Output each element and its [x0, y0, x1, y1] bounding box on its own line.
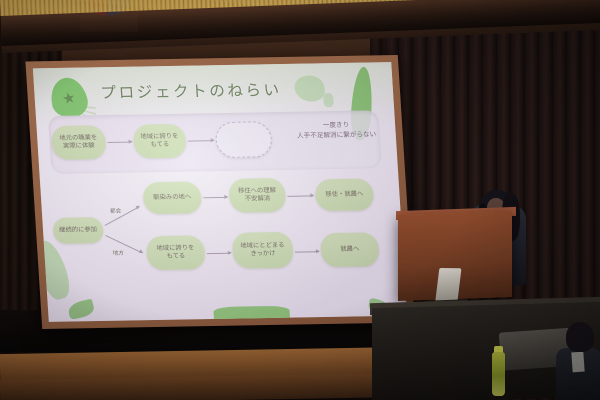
slide-title-row: ★ プロジェクトのねらい	[43, 70, 384, 116]
node-line: 地域に誇りを	[156, 244, 194, 253]
arrow-branch-lower	[105, 235, 142, 254]
seated-attendee-shirt	[571, 352, 584, 373]
node-line: 移住・就農へ	[325, 190, 363, 199]
note-line: 人手不足解消に繋がらない	[283, 130, 390, 141]
branch-label-upper: 都会	[110, 207, 122, 215]
node-source: 継続的に参加	[52, 217, 104, 244]
node-line: 移住への理解	[238, 187, 276, 196]
projection-screen: ★ プロジェクトのねらい 地元の職業を 実際に体験 地域に誇りを もてる 一度き…	[25, 55, 414, 329]
star-glyph: ★	[61, 90, 78, 107]
grass-icon-bottom-left	[66, 299, 95, 320]
node-b3: 就農へ	[320, 232, 380, 267]
node-n1: 地元の職業を 実際に体験	[51, 125, 107, 160]
node-line: 馴染みの地へ	[153, 193, 191, 202]
node-line: 実際に体験	[63, 142, 95, 151]
arrow-n2-n3	[188, 140, 214, 142]
node-n2: 地域に誇りを もてる	[133, 124, 187, 159]
node-line: もてる	[150, 141, 169, 150]
arrow-b2-b3	[295, 251, 319, 253]
node-n3-empty	[215, 121, 273, 158]
top-row-note: 一度きり 人手不足解消に繋がらない	[283, 120, 390, 141]
node-line: 就農へ	[340, 245, 359, 254]
node-line: 地域に誇りを	[140, 132, 178, 141]
node-line: 不安解消	[245, 195, 271, 204]
arrow-n1-n2	[108, 142, 132, 144]
presentation-photo-scene: ★ プロジェクトのねらい 地元の職業を 実際に体験 地域に誇りを もてる 一度き…	[0, 0, 600, 400]
water-bottle	[492, 352, 505, 396]
branch-label-lower: 地方	[112, 249, 124, 257]
arrow-m1-m2	[203, 197, 227, 199]
node-b2: 地域にとどまる きっかけ	[232, 232, 294, 269]
node-line: 継続的に参加	[59, 226, 97, 235]
node-m2: 移住への理解 不安解消	[228, 178, 286, 213]
slide-surface: ★ プロジェクトのねらい 地元の職業を 実際に体験 地域に誇りを もてる 一度き…	[33, 62, 407, 322]
arrow-b1-b2	[207, 253, 231, 255]
page-title: プロジェクトのねらい	[100, 78, 283, 103]
node-line: きっかけ	[250, 250, 275, 259]
node-m1: 馴染みの地へ	[142, 181, 202, 214]
node-line: もてる	[166, 253, 185, 262]
node-m3: 移住・就農へ	[314, 178, 374, 211]
arrow-m2-m3	[287, 195, 313, 197]
node-b1: 地域に誇りを もてる	[146, 235, 206, 270]
seated-attendee	[566, 322, 594, 352]
